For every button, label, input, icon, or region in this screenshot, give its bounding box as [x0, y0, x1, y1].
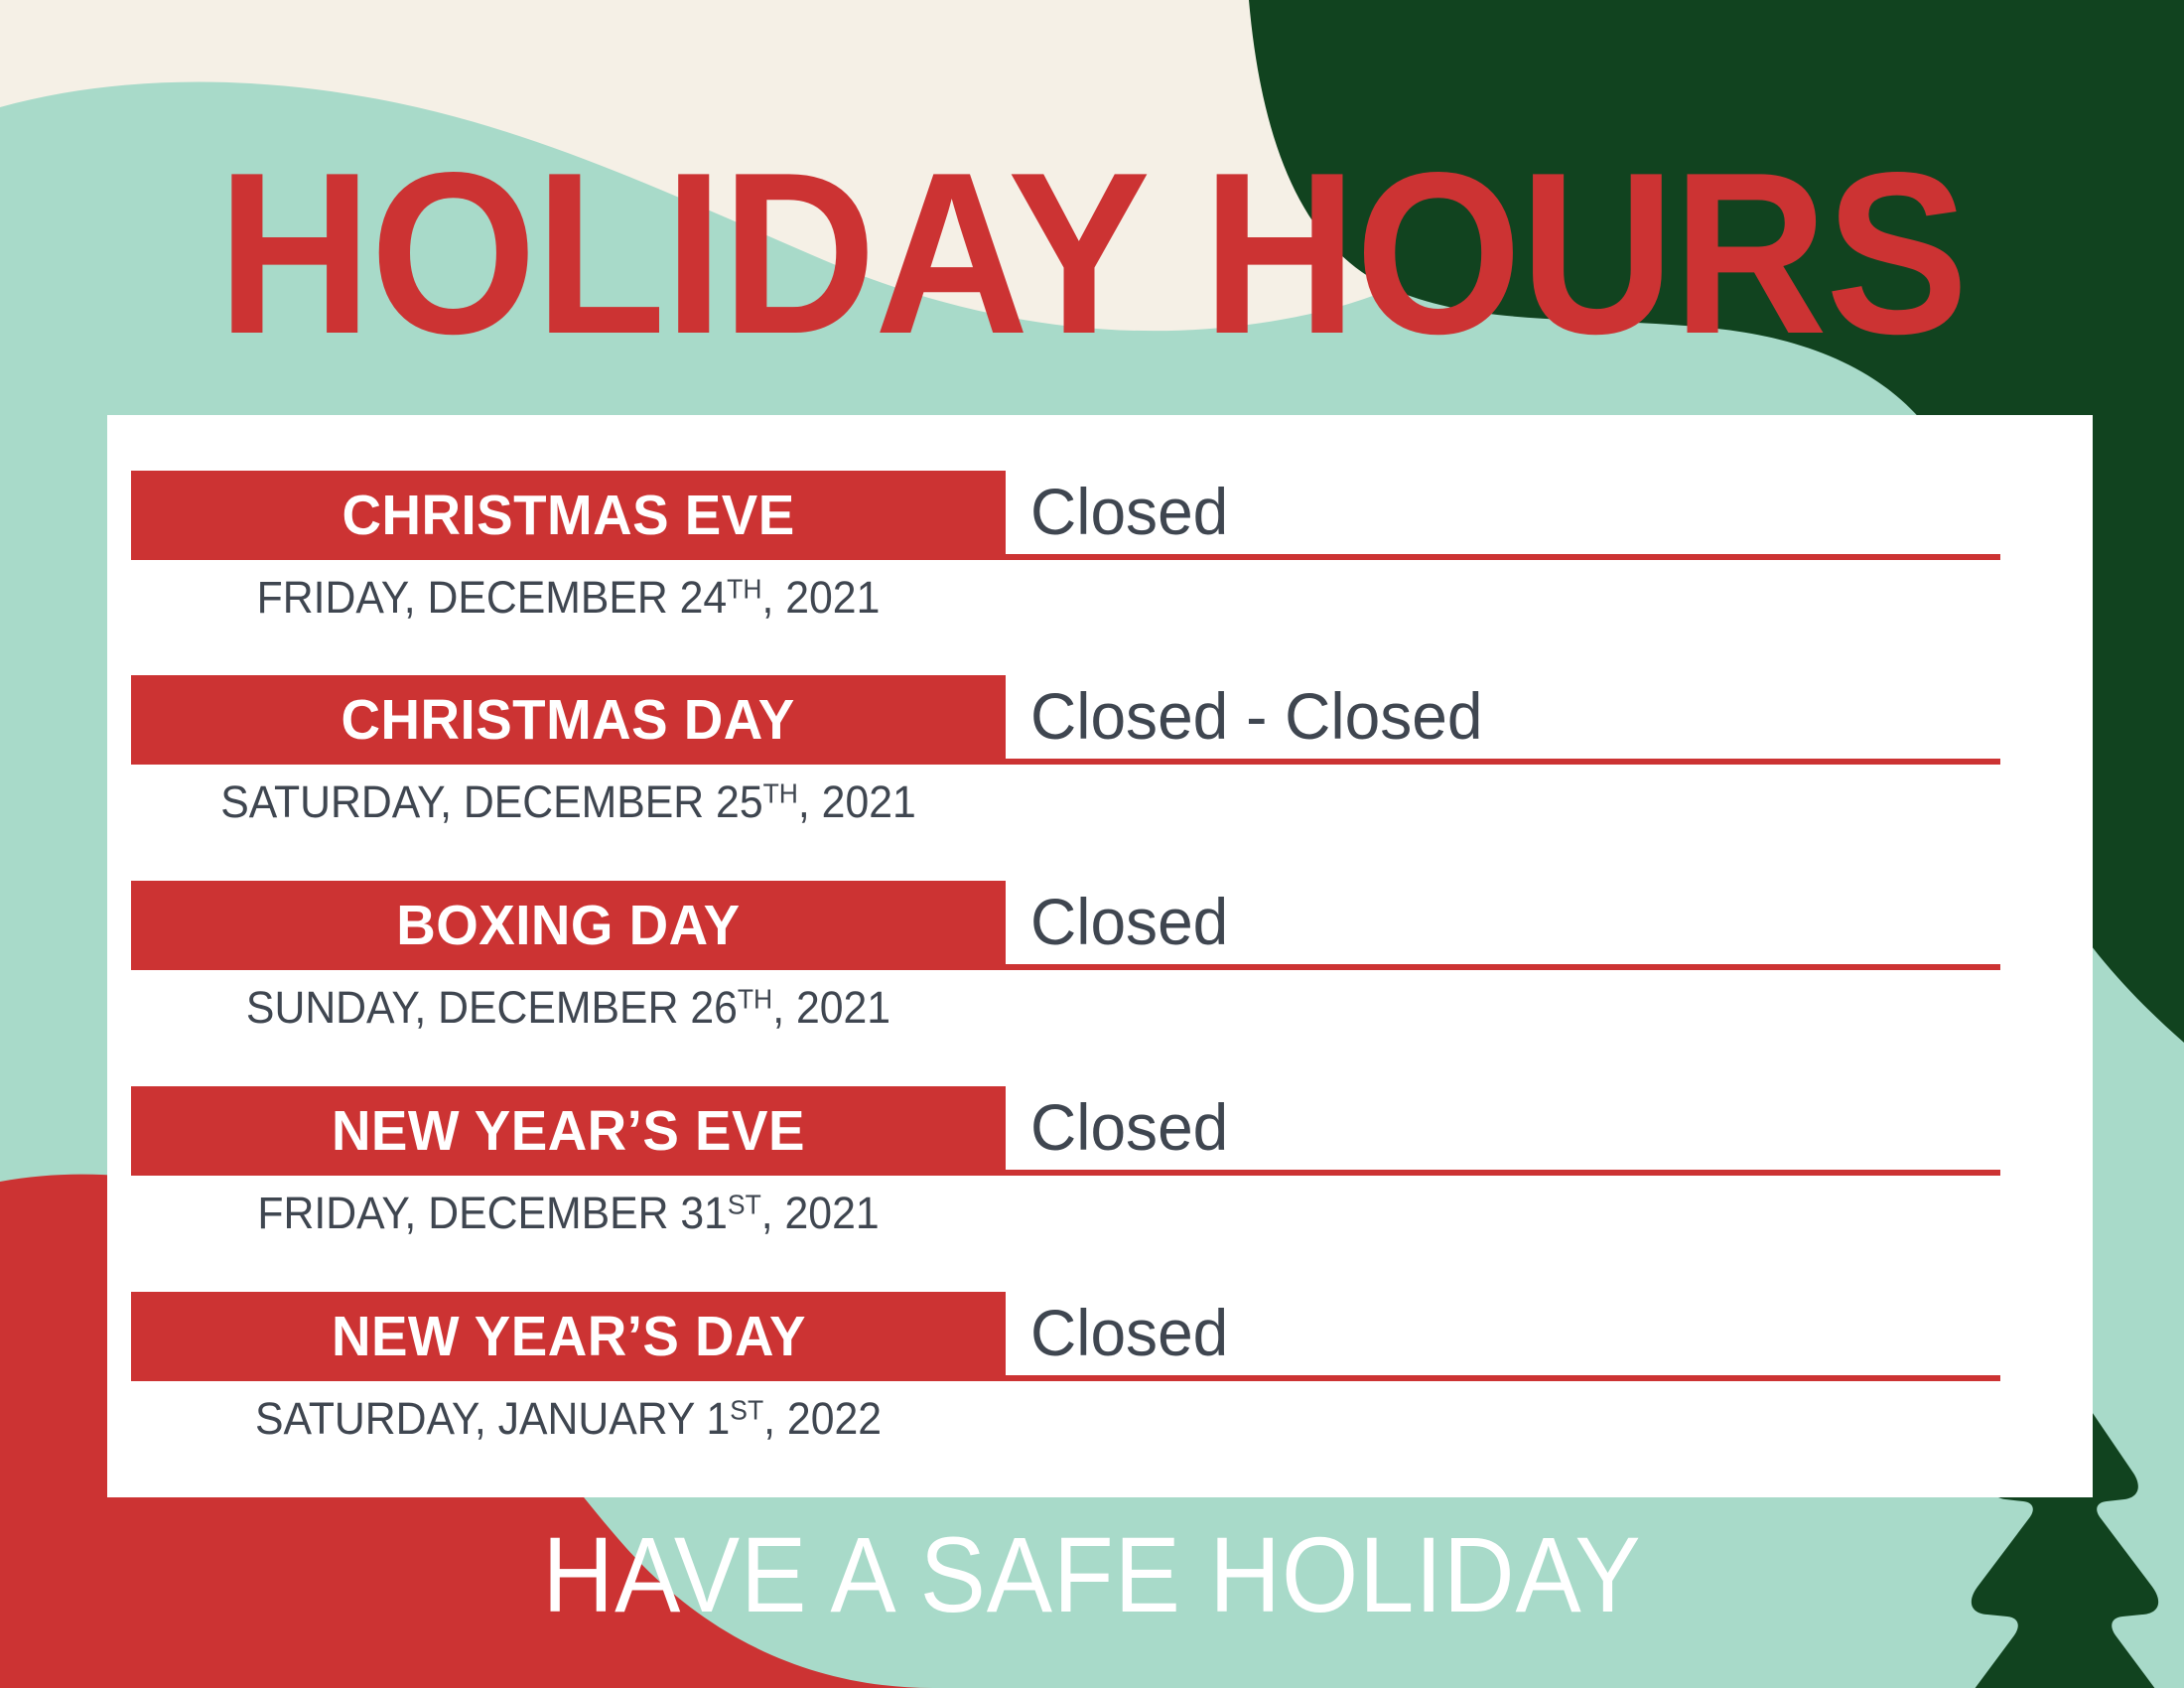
schedule-row: NEW YEAR’S EVE Closed FRIDAY, DECEMBER 3… — [107, 1086, 2093, 1292]
date-prefix: FRIDAY, DECEMBER 31 — [257, 1188, 728, 1238]
row-underline — [1006, 1375, 2000, 1381]
holiday-name: BOXING DAY — [396, 898, 740, 954]
date-suffix: , 2021 — [762, 572, 881, 623]
holiday-hours-value: Closed — [1030, 1294, 1228, 1371]
date-prefix: SUNDAY, DECEMBER 26 — [246, 982, 738, 1033]
holiday-name: CHRISTMAS EVE — [341, 488, 794, 544]
schedule-row: CHRISTMAS DAY Closed - Closed SATURDAY, … — [107, 675, 2093, 881]
holiday-date: FRIDAY, DECEMBER 31ST, 2021 — [153, 1182, 984, 1245]
date-ordinal: ST — [728, 1190, 761, 1220]
holiday-date: SUNDAY, DECEMBER 26TH, 2021 — [153, 976, 984, 1040]
schedule-row: CHRISTMAS EVE Closed FRIDAY, DECEMBER 24… — [107, 471, 2093, 676]
holiday-hours-poster: HOLIDAY HOURS CHRISTMAS EVE Closed FRIDA… — [0, 0, 2184, 1688]
date-prefix: FRIDAY, DECEMBER 24 — [257, 572, 728, 623]
holiday-name: NEW YEAR’S EVE — [332, 1103, 805, 1160]
date-suffix: , 2021 — [761, 1188, 880, 1238]
date-suffix: , 2022 — [763, 1393, 882, 1444]
date-prefix: SATURDAY, JANUARY 1 — [255, 1393, 730, 1444]
date-ordinal: TH — [727, 574, 761, 605]
row-underline — [1006, 1170, 2000, 1176]
holiday-name: CHRISTMAS DAY — [341, 692, 795, 749]
holiday-hours-value: Closed — [1030, 883, 1228, 960]
holiday-name: NEW YEAR’S DAY — [331, 1309, 805, 1365]
date-ordinal: ST — [730, 1395, 763, 1426]
holiday-hours-value: Closed — [1030, 473, 1228, 550]
holiday-name-bar: CHRISTMAS DAY — [131, 675, 1006, 765]
page-title: HOLIDAY HOURS — [76, 139, 2108, 369]
row-underline — [1006, 759, 2000, 765]
holiday-hours-value: Closed - Closed — [1030, 677, 1482, 755]
holiday-date: SATURDAY, JANUARY 1ST, 2022 — [153, 1387, 984, 1451]
holiday-name-bar: CHRISTMAS EVE — [131, 471, 1006, 560]
holiday-date: FRIDAY, DECEMBER 24TH, 2021 — [153, 566, 984, 630]
row-underline — [1006, 554, 2000, 560]
date-suffix: , 2021 — [798, 776, 916, 827]
date-ordinal: TH — [763, 778, 798, 809]
holiday-date: SATURDAY, DECEMBER 25TH, 2021 — [153, 771, 984, 834]
holiday-hours-value: Closed — [1030, 1088, 1228, 1166]
holiday-name-bar: BOXING DAY — [131, 881, 1006, 970]
footer-tagline: HAVE A SAFE HOLIDAY — [87, 1521, 2097, 1628]
date-ordinal: TH — [738, 984, 772, 1015]
schedule-row: NEW YEAR’S DAY Closed SATURDAY, JANUARY … — [107, 1292, 2093, 1497]
date-prefix: SATURDAY, DECEMBER 25 — [220, 776, 762, 827]
date-suffix: , 2021 — [772, 982, 890, 1033]
row-underline — [1006, 964, 2000, 970]
schedule-row: BOXING DAY Closed SUNDAY, DECEMBER 26TH,… — [107, 881, 2093, 1086]
schedule-card: CHRISTMAS EVE Closed FRIDAY, DECEMBER 24… — [107, 415, 2093, 1497]
holiday-name-bar: NEW YEAR’S DAY — [131, 1292, 1006, 1381]
holiday-name-bar: NEW YEAR’S EVE — [131, 1086, 1006, 1176]
